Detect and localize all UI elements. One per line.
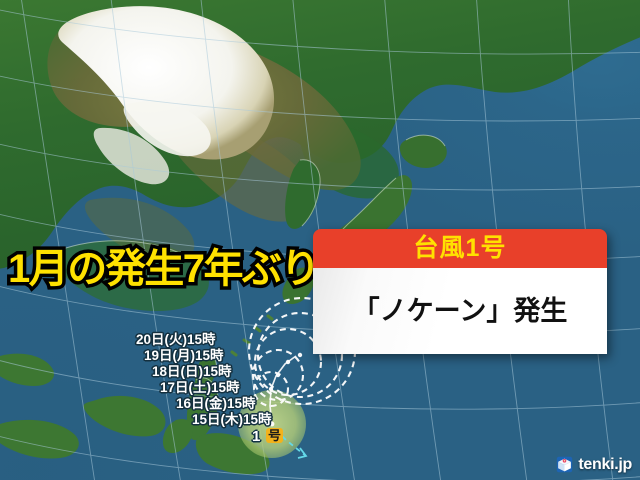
storm-number-label: 1	[252, 429, 260, 444]
headline-text: 1月の発生7年ぶり	[8, 249, 319, 289]
tenki-logo[interactable]: tenki.jp	[556, 456, 632, 473]
panel-body: 「ノケーン」発生	[313, 268, 607, 354]
cube-flower-icon	[556, 456, 573, 473]
weather-map-screenshot: 20日(火)15時 19日(月)15時 18日(日)15時 17日(土)15時 …	[0, 0, 640, 480]
forecast-label-3: 17日(土)15時	[160, 381, 240, 395]
forecast-label-5: 15日(木)15時	[192, 413, 272, 427]
forecast-label-4: 16日(金)15時	[176, 397, 256, 411]
typhoon-info-panel: 台風1号 「ノケーン」発生	[313, 229, 607, 354]
storm-number-unit-badge: 号	[266, 428, 283, 443]
forecast-label-2: 18日(日)15時	[152, 365, 232, 379]
forecast-label-1: 19日(月)15時	[144, 349, 224, 363]
panel-header: 台風1号	[313, 229, 607, 268]
forecast-label-0: 20日(火)15時	[136, 333, 216, 347]
panel-header-label: 台風1号	[414, 236, 507, 261]
logo-text: tenki.jp	[578, 457, 632, 473]
panel-body-label: 「ノケーン」発生	[353, 298, 568, 325]
